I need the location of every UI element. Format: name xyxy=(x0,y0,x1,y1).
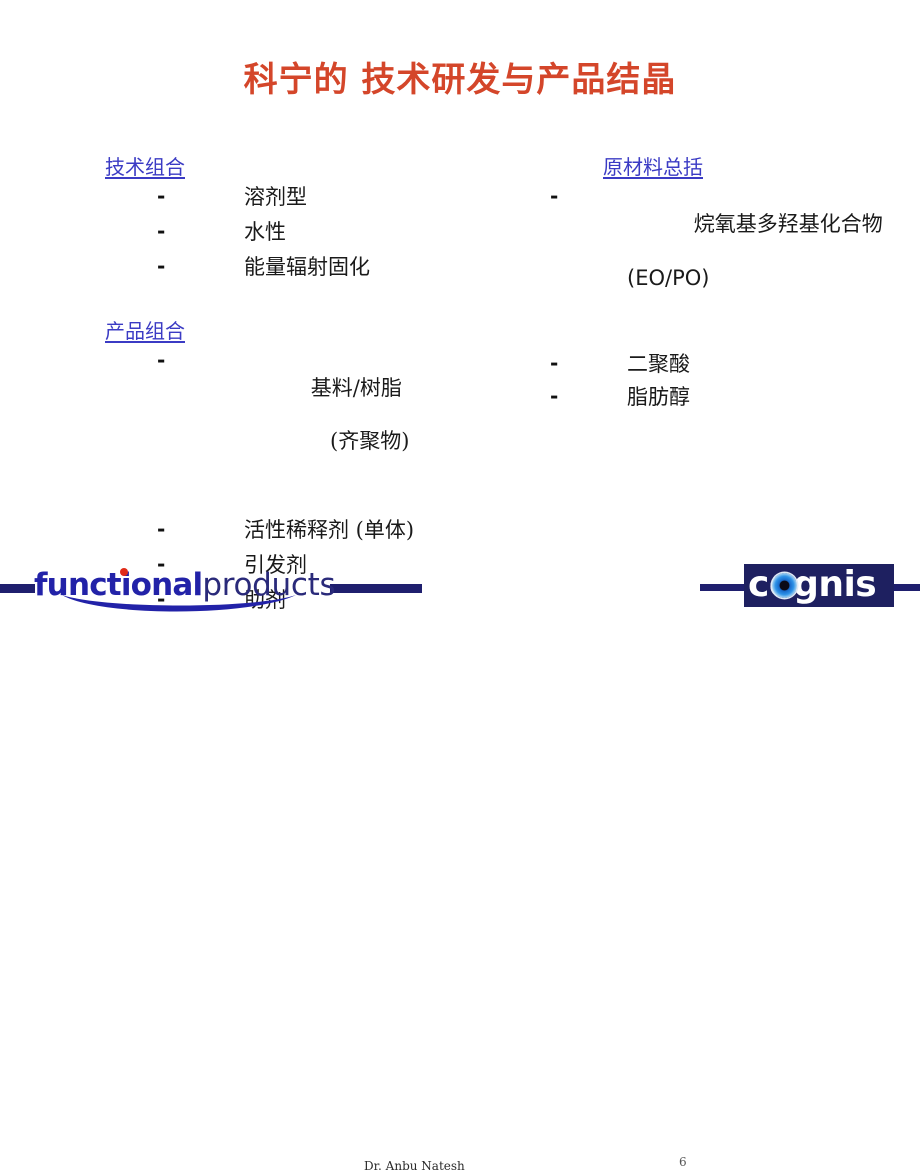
list-item-label: 二聚酸 xyxy=(627,351,690,378)
page-title: 科宁的 技术研发与产品结晶 xyxy=(0,52,920,101)
section-technology-portfolio: 技术组合 - 溶剂型 - 水性 - 能量辐射固化 xyxy=(105,155,535,281)
eye-iris-icon xyxy=(772,573,797,598)
cognis-wordmark: cognis xyxy=(748,563,898,607)
list-item: - 活性稀释剂 (单体) xyxy=(105,517,535,544)
list-item-sub-text: (齐聚物) xyxy=(244,428,409,455)
bullet-list-raw-materials: - 烷氧基多羟基化合物 (EO/PO) - 二聚酸 - 脂肪醇 xyxy=(550,184,920,411)
list-item-label: 脂肪醇 xyxy=(627,384,690,411)
bullet-dash-icon: - xyxy=(157,348,172,374)
slide-canvas: { "slide": { "title": "科宁的 技术研发与产品结晶", "… xyxy=(0,0,920,637)
section-heading-product: 产品组合 xyxy=(105,319,185,344)
bullet-dash-icon: - xyxy=(550,351,565,377)
logo-bar-right-icon xyxy=(330,584,422,593)
list-item: - 脂肪醇 xyxy=(550,384,920,411)
list-item-label: 能量辐射固化 xyxy=(244,254,370,281)
logo-i-dot-icon xyxy=(120,568,128,576)
logo-bar-left-icon xyxy=(0,584,35,593)
section-heading-raw-materials: 原材料总括 xyxy=(603,155,703,180)
bullet-dash-icon: - xyxy=(157,254,172,280)
presenter-name: Dr. Anbu Natesh xyxy=(364,1159,465,1173)
page-number: 6 xyxy=(679,1155,687,1169)
list-item-label: 基料/树脂 (齐聚物) xyxy=(244,348,409,509)
section-raw-materials: 原材料总括 - 烷氧基多羟基化合物 (EO/PO) - 二聚酸 - 脂肪醇 xyxy=(550,155,920,411)
list-item-label: 活性稀释剂 (单体) xyxy=(244,517,414,544)
list-item: - 基料/树脂 (齐聚物) xyxy=(105,348,535,509)
logo-swoosh-icon xyxy=(60,593,300,615)
list-item-main-text: 烷氧基多羟基化合物 xyxy=(694,212,883,236)
section-heading-technology: 技术组合 xyxy=(105,155,185,180)
slide-footer: functionalproducts cognis Dr. Anbu Nates… xyxy=(0,555,920,637)
left-content-column: 技术组合 - 溶剂型 - 水性 - 能量辐射固化 产品组合 - 基料/树脂 xyxy=(105,155,535,622)
bullet-dash-icon: - xyxy=(157,219,172,245)
list-item: - 溶剂型 xyxy=(105,184,535,211)
list-item-label: 溶剂型 xyxy=(244,184,307,211)
right-content-column: 原材料总括 - 烷氧基多羟基化合物 (EO/PO) - 二聚酸 - 脂肪醇 xyxy=(550,155,920,417)
list-item-sub-text: (EO/PO) xyxy=(627,265,883,292)
bullet-list-technology: - 溶剂型 - 水性 - 能量辐射固化 xyxy=(105,184,535,281)
list-item-label: 烷氧基多羟基化合物 (EO/PO) xyxy=(627,184,883,345)
list-item-main-text: 基料/树脂 xyxy=(311,376,402,400)
bullet-dash-icon: - xyxy=(550,184,565,210)
list-item: - 二聚酸 xyxy=(550,351,920,378)
list-item-label: 水性 xyxy=(244,219,286,246)
bullet-dash-icon: - xyxy=(157,517,172,543)
list-item: - 烷氧基多羟基化合物 (EO/PO) xyxy=(550,184,920,345)
bullet-dash-icon: - xyxy=(550,384,565,410)
cognis-logo: cognis xyxy=(700,563,920,611)
list-item: - 水性 xyxy=(105,219,535,246)
section-spacer xyxy=(105,289,535,319)
bullet-dash-icon: - xyxy=(157,184,172,210)
functional-products-logo: functionalproducts xyxy=(0,563,420,609)
list-item: - 能量辐射固化 xyxy=(105,254,535,281)
